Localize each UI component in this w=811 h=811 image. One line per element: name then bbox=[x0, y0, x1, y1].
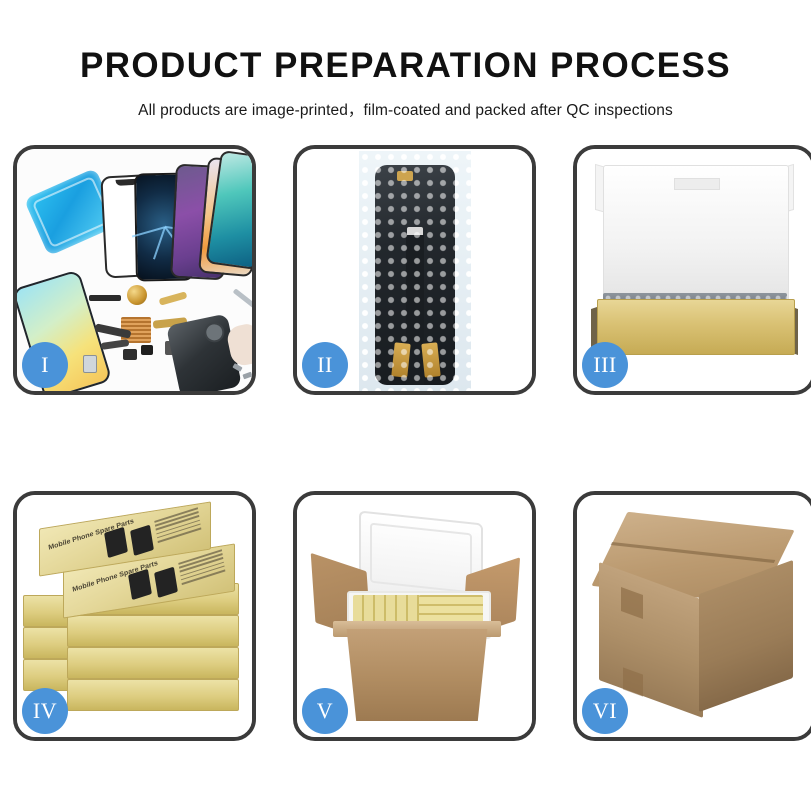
box-art-screen-c bbox=[104, 527, 128, 558]
box-spec-lines-front bbox=[178, 549, 225, 587]
step-badge-5: V bbox=[302, 688, 348, 734]
step-badge-1: I bbox=[22, 342, 68, 388]
bubble-wrap-bag bbox=[359, 151, 471, 391]
carton-body bbox=[337, 629, 497, 721]
white-box-lid bbox=[603, 165, 789, 303]
process-step-2: II bbox=[293, 145, 536, 395]
gold-box-base bbox=[597, 299, 795, 355]
gold-box-side-6 bbox=[67, 615, 239, 647]
process-step-5: V bbox=[293, 491, 536, 741]
bubble-wrap-overlay bbox=[359, 151, 471, 391]
screw-b bbox=[242, 372, 252, 380]
process-step-6: VI bbox=[573, 491, 811, 741]
chip-part-b bbox=[141, 345, 153, 355]
page-title: PRODUCT PREPARATION PROCESS bbox=[0, 0, 811, 86]
step-badge-4: IV bbox=[22, 688, 68, 734]
speaker-part bbox=[127, 285, 147, 305]
header: PRODUCT PREPARATION PROCESS All products… bbox=[0, 0, 811, 120]
box-art-screen-a bbox=[128, 569, 152, 600]
step-badge-3: III bbox=[582, 342, 628, 388]
step-badge-6: VI bbox=[582, 688, 628, 734]
flex-cable-d bbox=[159, 291, 188, 305]
process-step-4: Mobile Phone Spare Parts Mobile Phone Sp… bbox=[13, 491, 256, 741]
earpiece-bar-part bbox=[89, 295, 121, 301]
box-lid-tab bbox=[674, 178, 720, 190]
box-spec-lines-top bbox=[154, 507, 201, 545]
gold-box-side-4 bbox=[67, 679, 239, 711]
page-subtitle: All products are image-printed，film-coat… bbox=[0, 86, 811, 120]
step-badge-2: II bbox=[302, 342, 348, 388]
box-art-screen-d bbox=[130, 525, 154, 556]
process-step-3: III bbox=[573, 145, 811, 395]
gold-box-side-5 bbox=[67, 647, 239, 679]
chip-part-a bbox=[123, 349, 137, 360]
tweezers-tool bbox=[233, 288, 252, 310]
product-preparation-infographic: PRODUCT PREPARATION PROCESS All products… bbox=[0, 0, 811, 811]
gold-box-stack: Mobile Phone Spare Parts Mobile Phone Sp… bbox=[23, 509, 247, 721]
sim-tray-part bbox=[83, 355, 97, 373]
box-art-screen-b bbox=[154, 567, 178, 598]
process-step-1: I bbox=[13, 145, 256, 395]
process-step-grid: I II bbox=[13, 145, 798, 741]
